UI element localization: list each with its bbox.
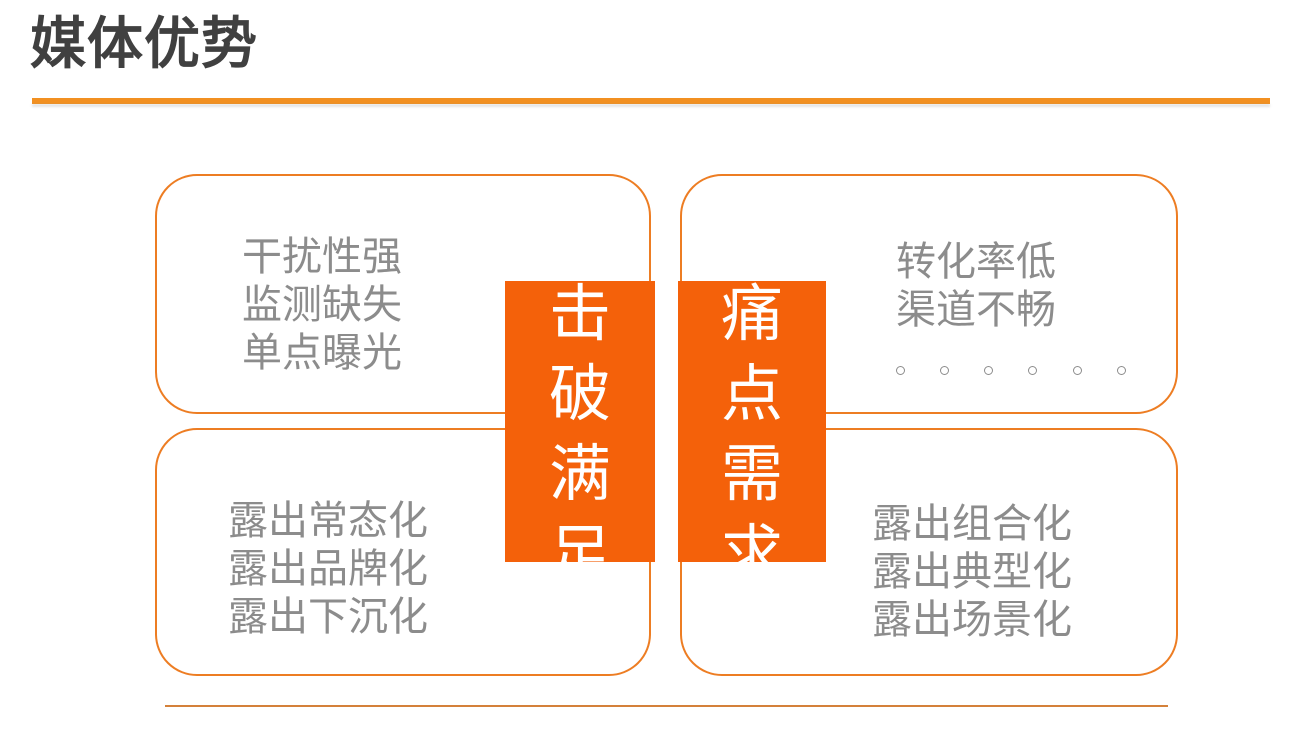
quadrant-bottom-right-text: 露出组合化 露出典型化 露出场景化 (872, 500, 1072, 644)
center-char: 痛 (678, 281, 826, 355)
dot-icon (984, 366, 993, 375)
dot-icon (896, 366, 905, 375)
center-char: 求 (678, 515, 826, 562)
list-item: 露出下沉化 (228, 593, 428, 641)
quadrant-top-right-text: 转化率低 渠道不畅 (896, 238, 1126, 374)
slide-canvas: 媒体优势 干扰性强 监测缺失 单点曝光 转化率低 渠道不畅 露出常态化 露出品牌… (0, 0, 1300, 735)
quadrant-bottom-left-text: 露出常态化 露出品牌化 露出下沉化 (228, 497, 428, 641)
dot-icon (1073, 366, 1082, 375)
footer-divider (165, 705, 1168, 707)
center-block-right-text: 痛 点 需 求 (678, 281, 826, 562)
dot-icon (1028, 366, 1037, 375)
list-item: 露出组合化 (872, 500, 1072, 548)
list-item: 露出品牌化 (228, 545, 428, 593)
list-item: 露出场景化 (872, 596, 1072, 644)
center-char: 击 (505, 281, 655, 355)
center-char: 足 (505, 515, 655, 562)
list-item: 监测缺失 (242, 281, 402, 329)
center-char: 满 (505, 435, 655, 515)
list-item: 干扰性强 (242, 233, 402, 281)
center-block-left: 击 破 满 足 (505, 281, 655, 562)
list-item: 单点曝光 (242, 329, 402, 377)
center-char: 破 (505, 355, 655, 435)
list-item: 渠道不畅 (896, 286, 1126, 334)
quadrant-top-left-text: 干扰性强 监测缺失 单点曝光 (242, 233, 402, 377)
ellipsis-dots (896, 344, 1126, 374)
dot-icon (940, 366, 949, 375)
title-divider (32, 98, 1270, 104)
list-item: 露出常态化 (228, 497, 428, 545)
center-block-left-text: 击 破 满 足 (505, 281, 655, 562)
center-char: 需 (678, 435, 826, 515)
center-char: 点 (678, 355, 826, 435)
list-item: 转化率低 (896, 238, 1126, 286)
dot-icon (1117, 366, 1126, 375)
list-item: 露出典型化 (872, 548, 1072, 596)
page-title: 媒体优势 (30, 8, 258, 80)
center-block-right: 痛 点 需 求 (678, 281, 826, 562)
